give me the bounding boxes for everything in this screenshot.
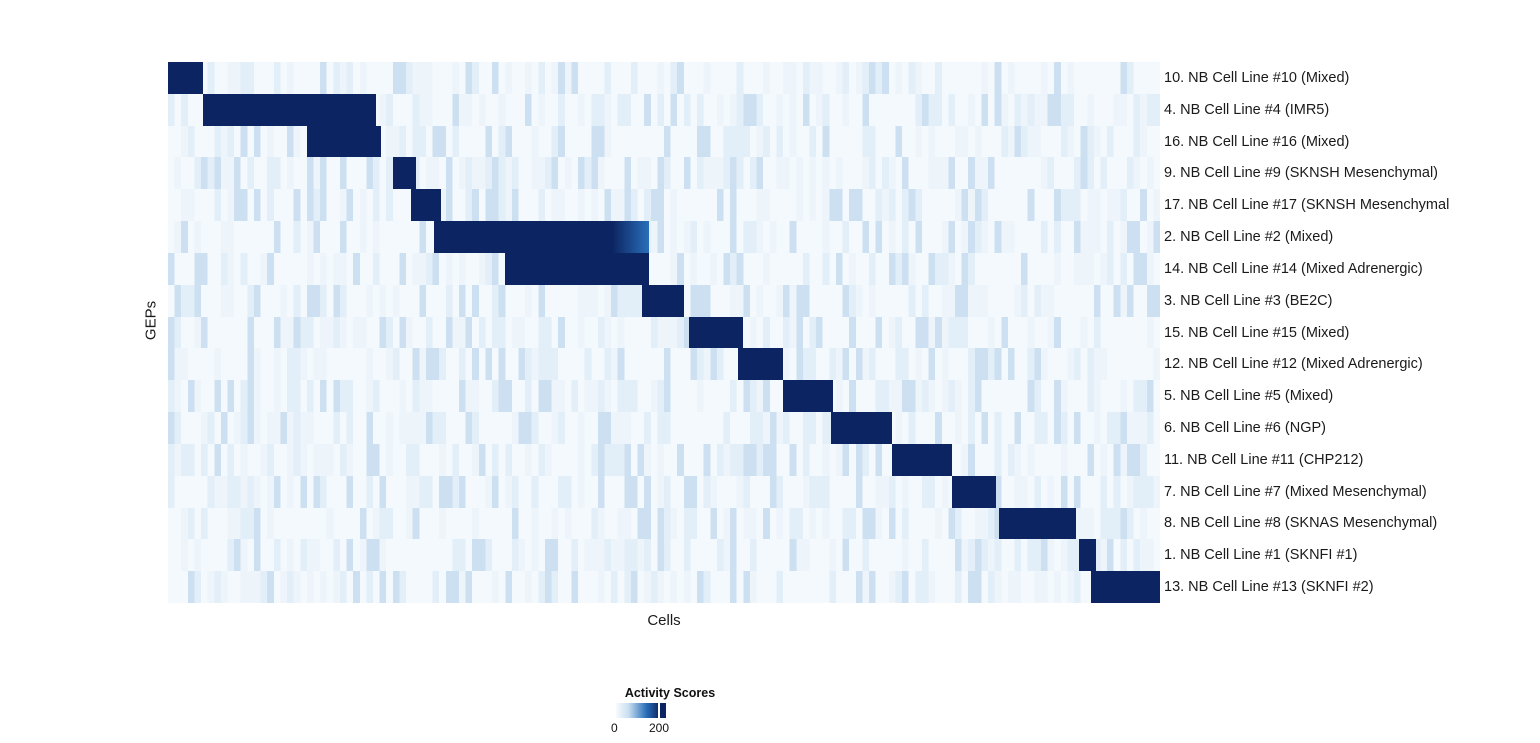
colorbar-title: Activity Scores [560, 686, 780, 700]
heatmap-row [168, 348, 1160, 380]
row-label: 17. NB Cell Line #17 (SKNSH Mesenchymal [1164, 198, 1449, 213]
heatmap-row-background [168, 412, 1160, 444]
heatmap-row-background [168, 571, 1160, 603]
heatmap-plot-area [168, 62, 1160, 603]
row-label: 6. NB Cell Line #6 (NGP) [1164, 421, 1326, 436]
heatmap-activity-block [738, 348, 783, 380]
heatmap-row [168, 285, 1160, 317]
heatmap-row-background [168, 380, 1160, 412]
heatmap-figure: GEPs Cells 10. NB Cell Line #10 (Mixed)4… [0, 0, 1540, 743]
row-label: 8. NB Cell Line #8 (SKNAS Mesenchymal) [1164, 516, 1437, 531]
heatmap-row [168, 62, 1160, 94]
colorbar-gradient [614, 703, 666, 718]
heatmap-activity-block [831, 412, 893, 444]
heatmap-activity-block [1091, 571, 1160, 603]
row-label: 11. NB Cell Line #11 (CHP212) [1164, 453, 1363, 468]
heatmap-row [168, 189, 1160, 221]
x-axis-label: Cells [168, 612, 1160, 629]
heatmap-row-background [168, 62, 1160, 94]
row-label: 5. NB Cell Line #5 (Mixed) [1164, 389, 1333, 404]
heatmap-row [168, 380, 1160, 412]
heatmap-activity-block [642, 285, 684, 317]
colorbar-legend: Activity Scores 0 200 [560, 686, 780, 741]
row-label: 4. NB Cell Line #4 (IMR5) [1164, 103, 1329, 118]
heatmap-row-background [168, 221, 1160, 253]
heatmap-row [168, 221, 1160, 253]
row-label: 14. NB Cell Line #14 (Mixed Adrenergic) [1164, 262, 1423, 277]
row-label: 15. NB Cell Line #15 (Mixed) [1164, 326, 1349, 341]
colorbar-tick-label-high: 200 [649, 721, 669, 735]
row-label: 9. NB Cell Line #9 (SKNSH Mesenchymal) [1164, 166, 1438, 181]
heatmap-activity-block [168, 62, 203, 94]
heatmap-row [168, 476, 1160, 508]
heatmap-activity-block [505, 253, 649, 285]
heatmap-activity-block [393, 157, 416, 189]
colorbar-tick-low [614, 703, 616, 718]
heatmap-row-background [168, 157, 1160, 189]
heatmap-activity-block [203, 94, 377, 126]
heatmap-activity-block [434, 221, 649, 253]
heatmap-row-background [168, 348, 1160, 380]
y-axis-label: GEPs [143, 301, 160, 341]
y-axis-label-wrapper: GEPs [131, 312, 171, 332]
heatmap-row [168, 412, 1160, 444]
colorbar-tick-label-low: 0 [611, 721, 618, 735]
row-label: 3. NB Cell Line #3 (BE2C) [1164, 294, 1332, 309]
heatmap-row [168, 317, 1160, 349]
heatmap-row [168, 126, 1160, 158]
row-label: 16. NB Cell Line #16 (Mixed) [1164, 135, 1349, 150]
row-label-list: 10. NB Cell Line #10 (Mixed)4. NB Cell L… [1164, 62, 1534, 603]
heatmap-activity-block [411, 189, 441, 221]
heatmap-row-background [168, 253, 1160, 285]
heatmap-row [168, 253, 1160, 285]
heatmap-row [168, 94, 1160, 126]
heatmap-row-background [168, 476, 1160, 508]
row-label: 10. NB Cell Line #10 (Mixed) [1164, 71, 1349, 86]
row-label: 2. NB Cell Line #2 (Mixed) [1164, 230, 1333, 245]
heatmap-row-background [168, 317, 1160, 349]
heatmap-activity-block [783, 380, 833, 412]
heatmap-row [168, 444, 1160, 476]
heatmap-activity-block [307, 126, 381, 158]
row-label: 12. NB Cell Line #12 (Mixed Adrenergic) [1164, 357, 1423, 372]
row-label: 1. NB Cell Line #1 (SKNFI #1) [1164, 548, 1357, 563]
heatmap-row [168, 539, 1160, 571]
heatmap-activity-block [999, 508, 1075, 540]
row-label: 7. NB Cell Line #7 (Mixed Mesenchymal) [1164, 485, 1427, 500]
heatmap-row [168, 157, 1160, 189]
heatmap-row-background [168, 444, 1160, 476]
heatmap-row-background [168, 539, 1160, 571]
colorbar-tick-high [658, 703, 660, 718]
heatmap-activity-block [689, 317, 744, 349]
heatmap-row [168, 571, 1160, 603]
heatmap-activity-block [1079, 539, 1096, 571]
heatmap-row [168, 508, 1160, 540]
heatmap-activity-block [952, 476, 997, 508]
heatmap-activity-block [892, 444, 952, 476]
row-label: 13. NB Cell Line #13 (SKNFI #2) [1164, 580, 1374, 595]
heatmap-row-background [168, 189, 1160, 221]
